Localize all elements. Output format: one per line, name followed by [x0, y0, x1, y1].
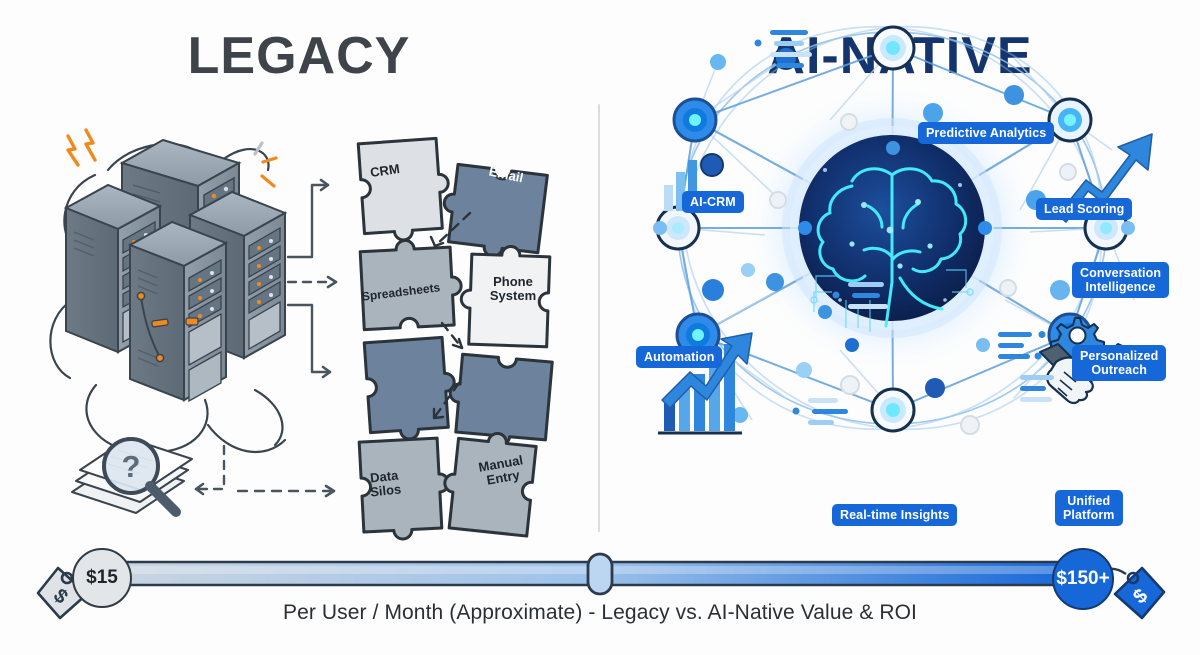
dashed-arrow-down: [196, 446, 224, 489]
svg-text:?: ?: [122, 449, 141, 484]
puzzle-piece-data-silos: [359, 438, 451, 541]
puzzle-piece-email: [438, 163, 547, 261]
ai-label-automation[interactable]: Automation: [636, 346, 722, 368]
puzzle-piece-blank-left: [364, 337, 458, 442]
price-caption: Per User / Month (Approximate) - Legacy …: [0, 601, 1200, 625]
solid-arrow-top: [288, 185, 328, 257]
ai-label-real-time-insights[interactable]: Real-time Insights: [832, 504, 957, 526]
puzzle-piece-phone-system: [460, 245, 550, 347]
server-rack-front-icon: [130, 222, 226, 401]
ai-label-lead-scoring[interactable]: Lead Scoring: [1036, 198, 1132, 220]
puzzle-piece-manual-entry: [440, 429, 537, 537]
ai-label-ai-crm[interactable]: AI-CRM: [682, 191, 744, 213]
ai-label-unified-platform[interactable]: Unified Platform: [1055, 490, 1123, 526]
slider-handle: [588, 554, 612, 594]
ai-label-personalized-outreach[interactable]: Personalized Outreach: [1072, 345, 1166, 381]
price-slider-graphics[interactable]: $ $: [0, 540, 1200, 655]
ai-label-predictive-analytics[interactable]: Predictive Analytics: [918, 122, 1054, 144]
infographic-canvas: LEGACY AI-NATIVE: [0, 0, 1200, 655]
solid-arrow-bottom: [288, 305, 330, 372]
puzzle-piece-spreadsheets: [360, 238, 463, 330]
puzzle-piece-crm: [358, 138, 452, 243]
ai-label-conversation-intelligence[interactable]: Conversation Intelligence: [1072, 262, 1169, 298]
price-low-bubble[interactable]: $15: [72, 548, 132, 608]
price-slider[interactable]: $ $: [0, 540, 1200, 655]
legacy-illustration: ?: [0, 0, 600, 545]
